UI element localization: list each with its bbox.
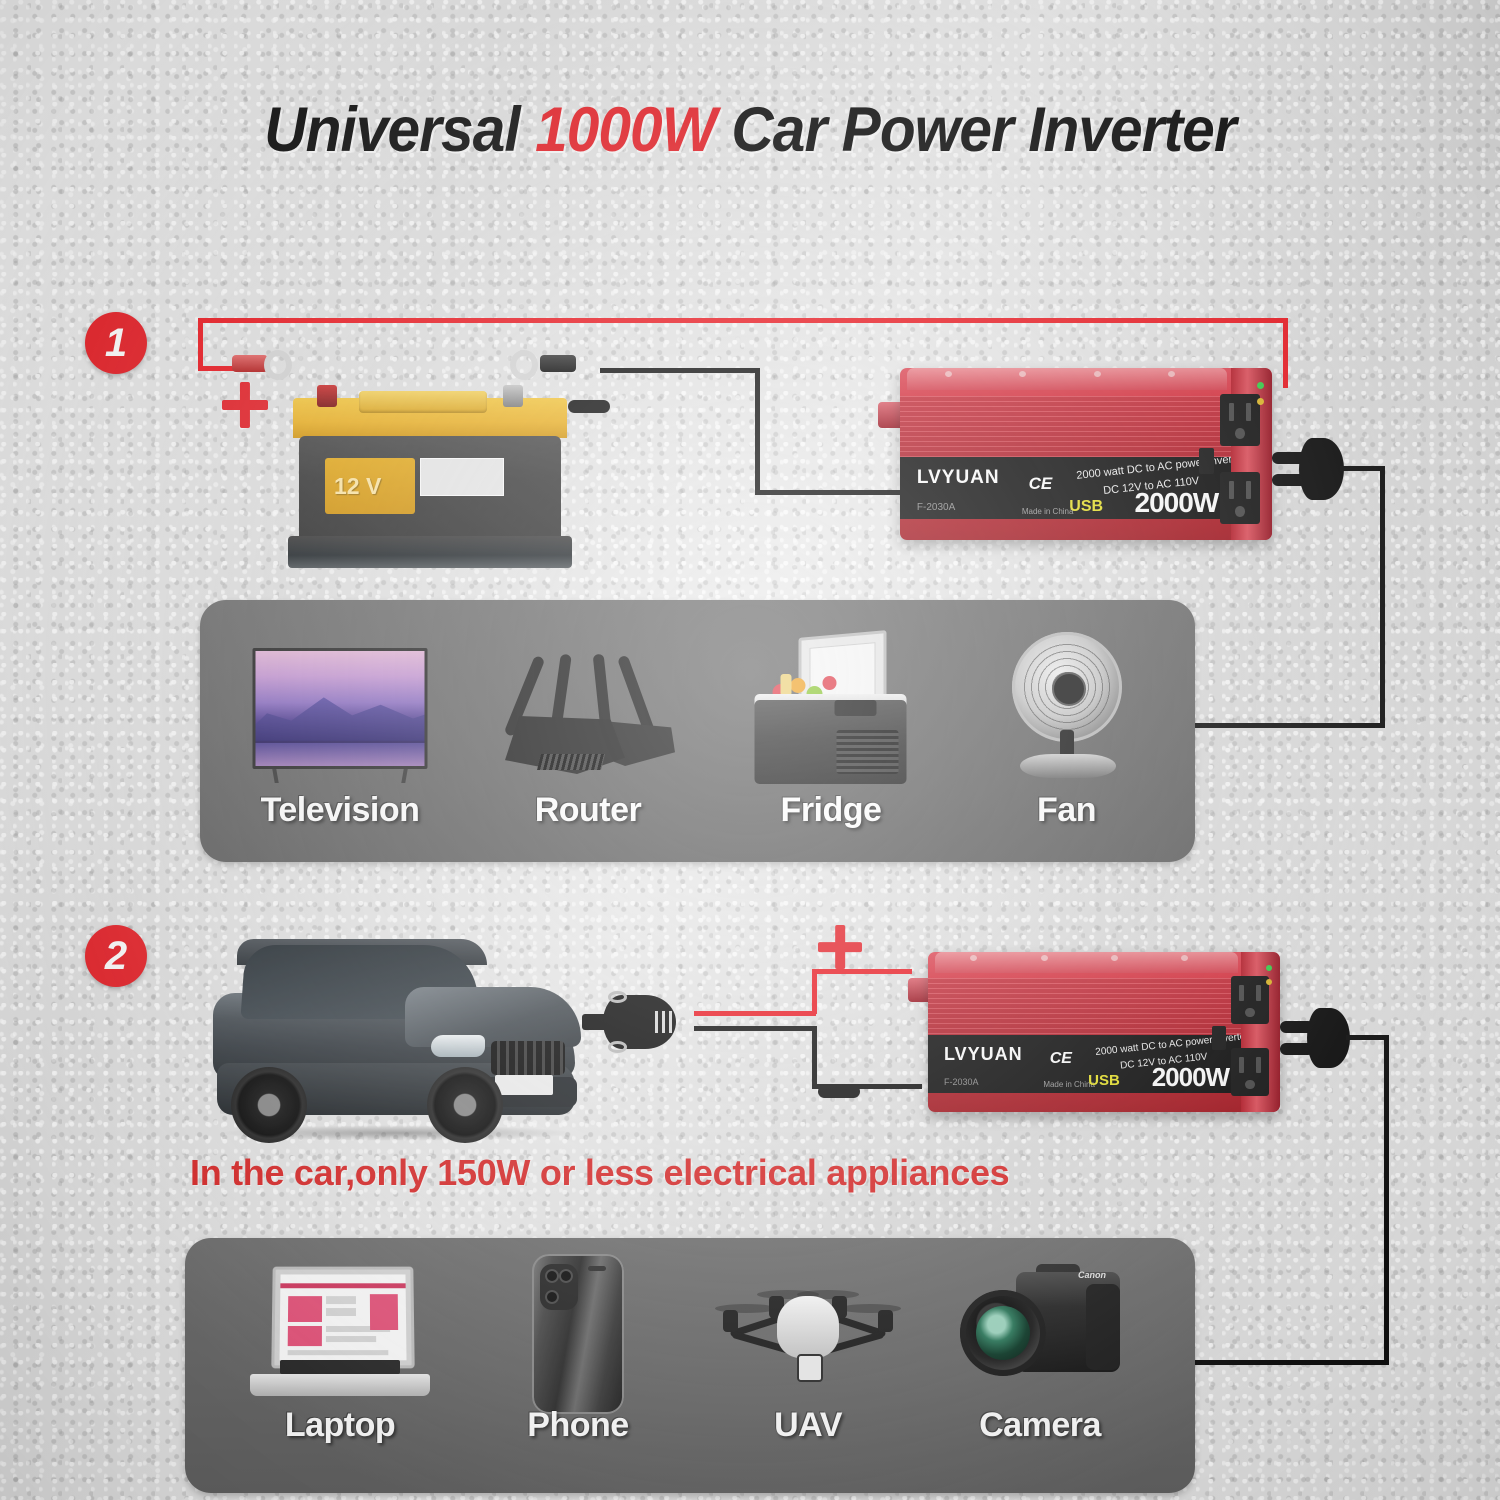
appliance-item-camera: Canon Camera <box>925 1238 1155 1493</box>
wire-plug-out <box>1346 1035 1388 1040</box>
appliance-label: Phone <box>527 1406 628 1445</box>
appliance-item-phone: Phone <box>473 1238 683 1493</box>
wattage-warning-text: In the car,only 150W or less electrical … <box>190 1152 1009 1194</box>
camera-icon: Canon <box>960 1264 1120 1389</box>
phone-icon <box>532 1254 624 1414</box>
appliance-panel-step2: Laptop Phone <box>185 1238 1195 1493</box>
appliance-item-laptop: Laptop <box>225 1238 455 1493</box>
appliance-label: Laptop <box>285 1406 395 1445</box>
appliance-item-uav: UAV <box>693 1238 923 1493</box>
laptop-icon <box>250 1266 430 1396</box>
drone-icon <box>713 1274 903 1394</box>
wire-into-panel2 <box>1192 1360 1384 1365</box>
camera-brand-label: Canon <box>1078 1270 1106 1280</box>
appliance-label: UAV <box>774 1406 842 1445</box>
wire-plug-down <box>1384 1035 1389 1365</box>
appliance-label: Camera <box>979 1406 1101 1445</box>
